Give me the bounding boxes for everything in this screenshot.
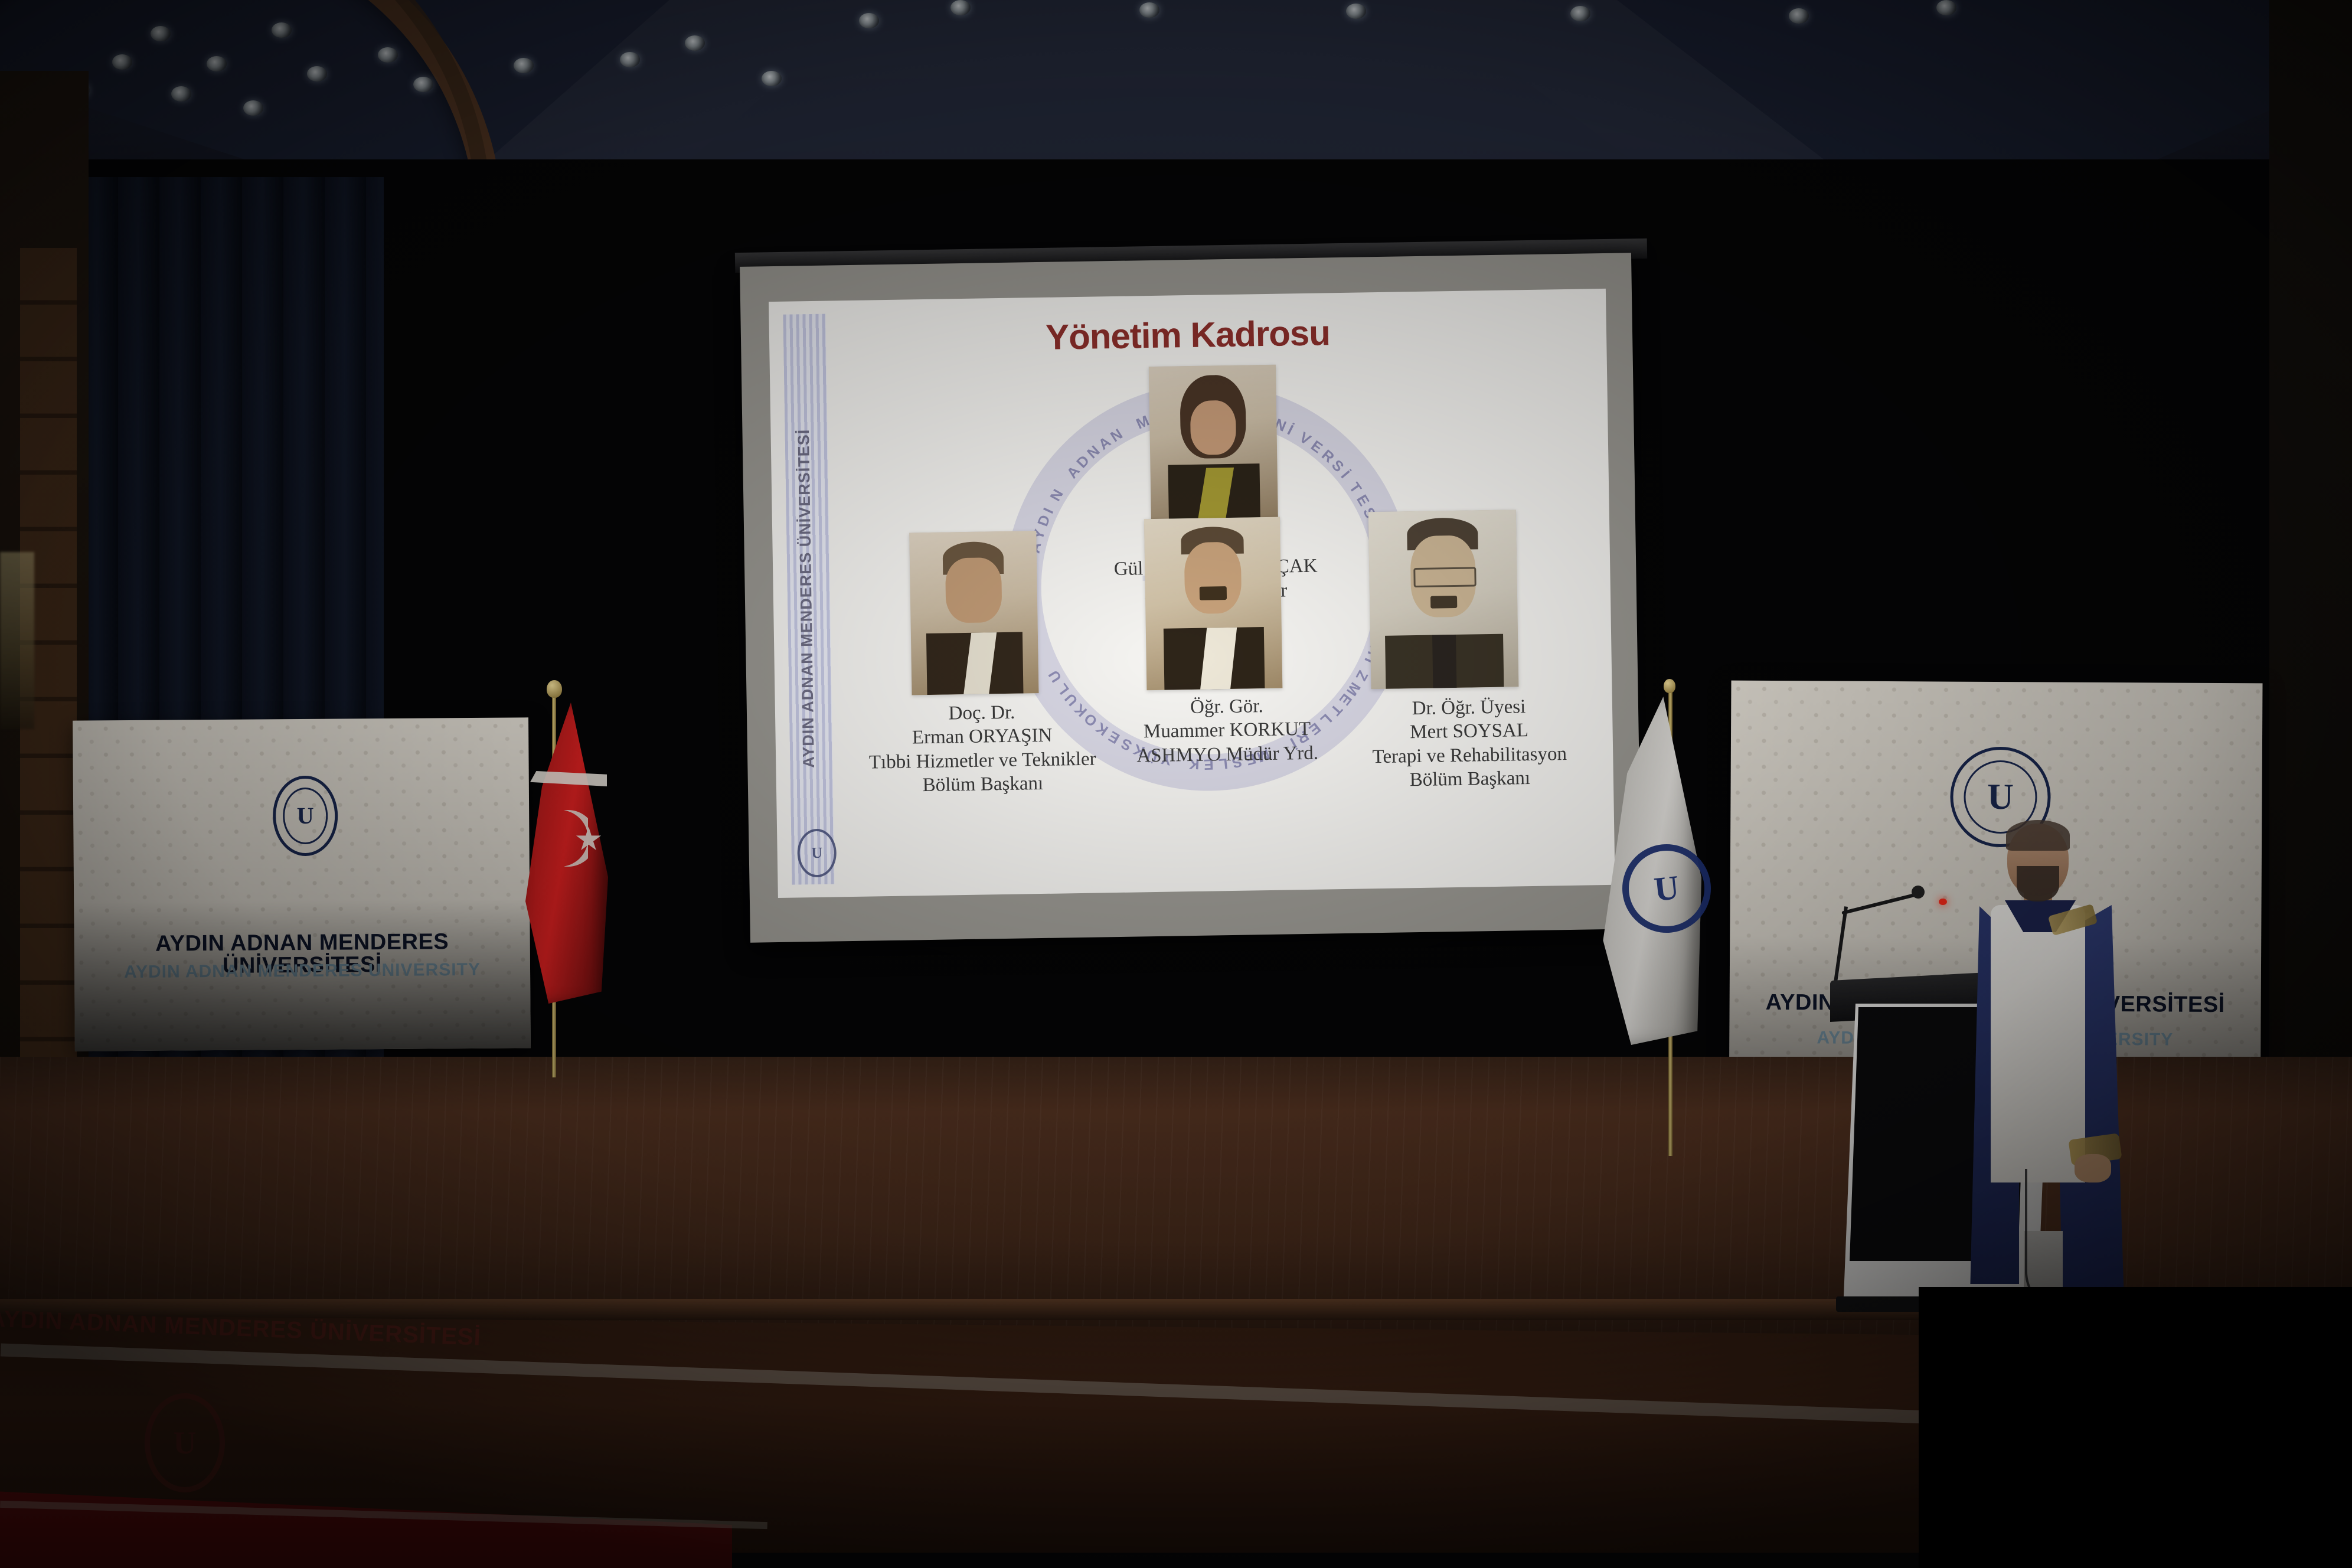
- microphone-icon: [1912, 886, 1925, 899]
- seal-letter: U: [1652, 870, 1681, 907]
- microphone-status-led: [1939, 899, 1947, 905]
- ceiling-spot-light: [112, 54, 132, 70]
- wall-sconce-light: [0, 552, 34, 729]
- slide-sidebar-text: AYDIN ADNAN MENDERES ÜNİVERSİTESİ: [794, 321, 819, 876]
- auditorium-stage-photo: AYDIN ADNAN MENDERES ÜNİVERSİTESİ U AYDI…: [0, 0, 2352, 1568]
- person-role-2: Bölüm Başkanı: [1331, 765, 1609, 793]
- projection-screen: AYDIN ADNAN MENDERES ÜNİVERSİTESİ U AYDI…: [740, 253, 1642, 943]
- stage-front-seal-icon: U: [145, 1393, 225, 1492]
- speaker-beard: [2017, 866, 2059, 901]
- backdrop-banner-left: U AYDIN ADNAN MENDERES ÜNİVERSİTESİ AYDI…: [73, 717, 531, 1051]
- ceiling-spot-light: [151, 26, 171, 41]
- person-role: Tıbbi Hizmetler ve Teknikler: [852, 747, 1113, 775]
- ceiling-spot-light: [272, 22, 292, 38]
- portrait-caption: Öğr. Gör. Muammer KORKUT ASHMYO Müdür Yr…: [1106, 693, 1349, 768]
- ceiling-spot-light: [1139, 2, 1159, 18]
- ceiling-spot-light: [1789, 8, 1809, 24]
- speaker-hair: [2006, 820, 2070, 851]
- person-role-2: Bölüm Başkanı: [853, 770, 1113, 798]
- portrait-caption: Doç. Dr. Erman ORYAŞIN Tıbbi Hizmetler v…: [852, 699, 1113, 798]
- ceiling-spot-light: [685, 35, 705, 51]
- slide-title: Yönetim Kadrosu: [769, 311, 1607, 360]
- ceiling-spot-light: [207, 56, 227, 71]
- portrait-photo: [1149, 365, 1278, 526]
- stage-front-right-shadow: [1919, 1287, 2352, 1568]
- portrait-photo: [909, 531, 1038, 695]
- ceiling-spot-light: [1936, 0, 1956, 15]
- person-name: Muammer KORKUT: [1106, 717, 1348, 744]
- banner-shadow-overlay: [73, 717, 531, 1051]
- person-role: ASHMYO Müdür Yrd.: [1106, 740, 1349, 768]
- person-title: Öğr. Gör.: [1106, 693, 1348, 721]
- slide-sidebar-stripe: AYDIN ADNAN MENDERES ÜNİVERSİTESİ: [783, 314, 834, 885]
- ceiling-spot-light: [762, 71, 782, 86]
- ceiling-spot-light: [307, 66, 327, 81]
- ceiling-spot-light: [171, 86, 191, 102]
- flag-finial-icon: [547, 680, 562, 698]
- person-title: Doç. Dr.: [852, 699, 1112, 727]
- portrait-photo: [1144, 517, 1283, 691]
- portrait-caption: Dr. Öğr. Üyesi Mert SOYSAL Terapi ve Reh…: [1330, 694, 1609, 793]
- ceiling-spot-light: [1570, 6, 1590, 21]
- ceiling-spot-light: [243, 100, 263, 116]
- presentation-slide: AYDIN ADNAN MENDERES ÜNİVERSİTESİ U AYDI…: [769, 289, 1615, 898]
- flag-finial-icon: [1664, 679, 1675, 693]
- ceiling-spot-light: [413, 77, 433, 92]
- person-role: Terapi ve Rehabilitasyon: [1331, 741, 1609, 769]
- ceiling-spot-light: [514, 58, 534, 73]
- ceiling-spot-light: [620, 52, 640, 67]
- ceiling-spot-light: [1346, 4, 1366, 19]
- portrait-photo: [1368, 509, 1519, 689]
- ceiling-spot-light: [859, 13, 879, 28]
- ceiling-spot-light: [378, 47, 398, 63]
- person-name: Erman ORYAŞIN: [852, 723, 1112, 750]
- ceiling-spot-light: [950, 0, 971, 15]
